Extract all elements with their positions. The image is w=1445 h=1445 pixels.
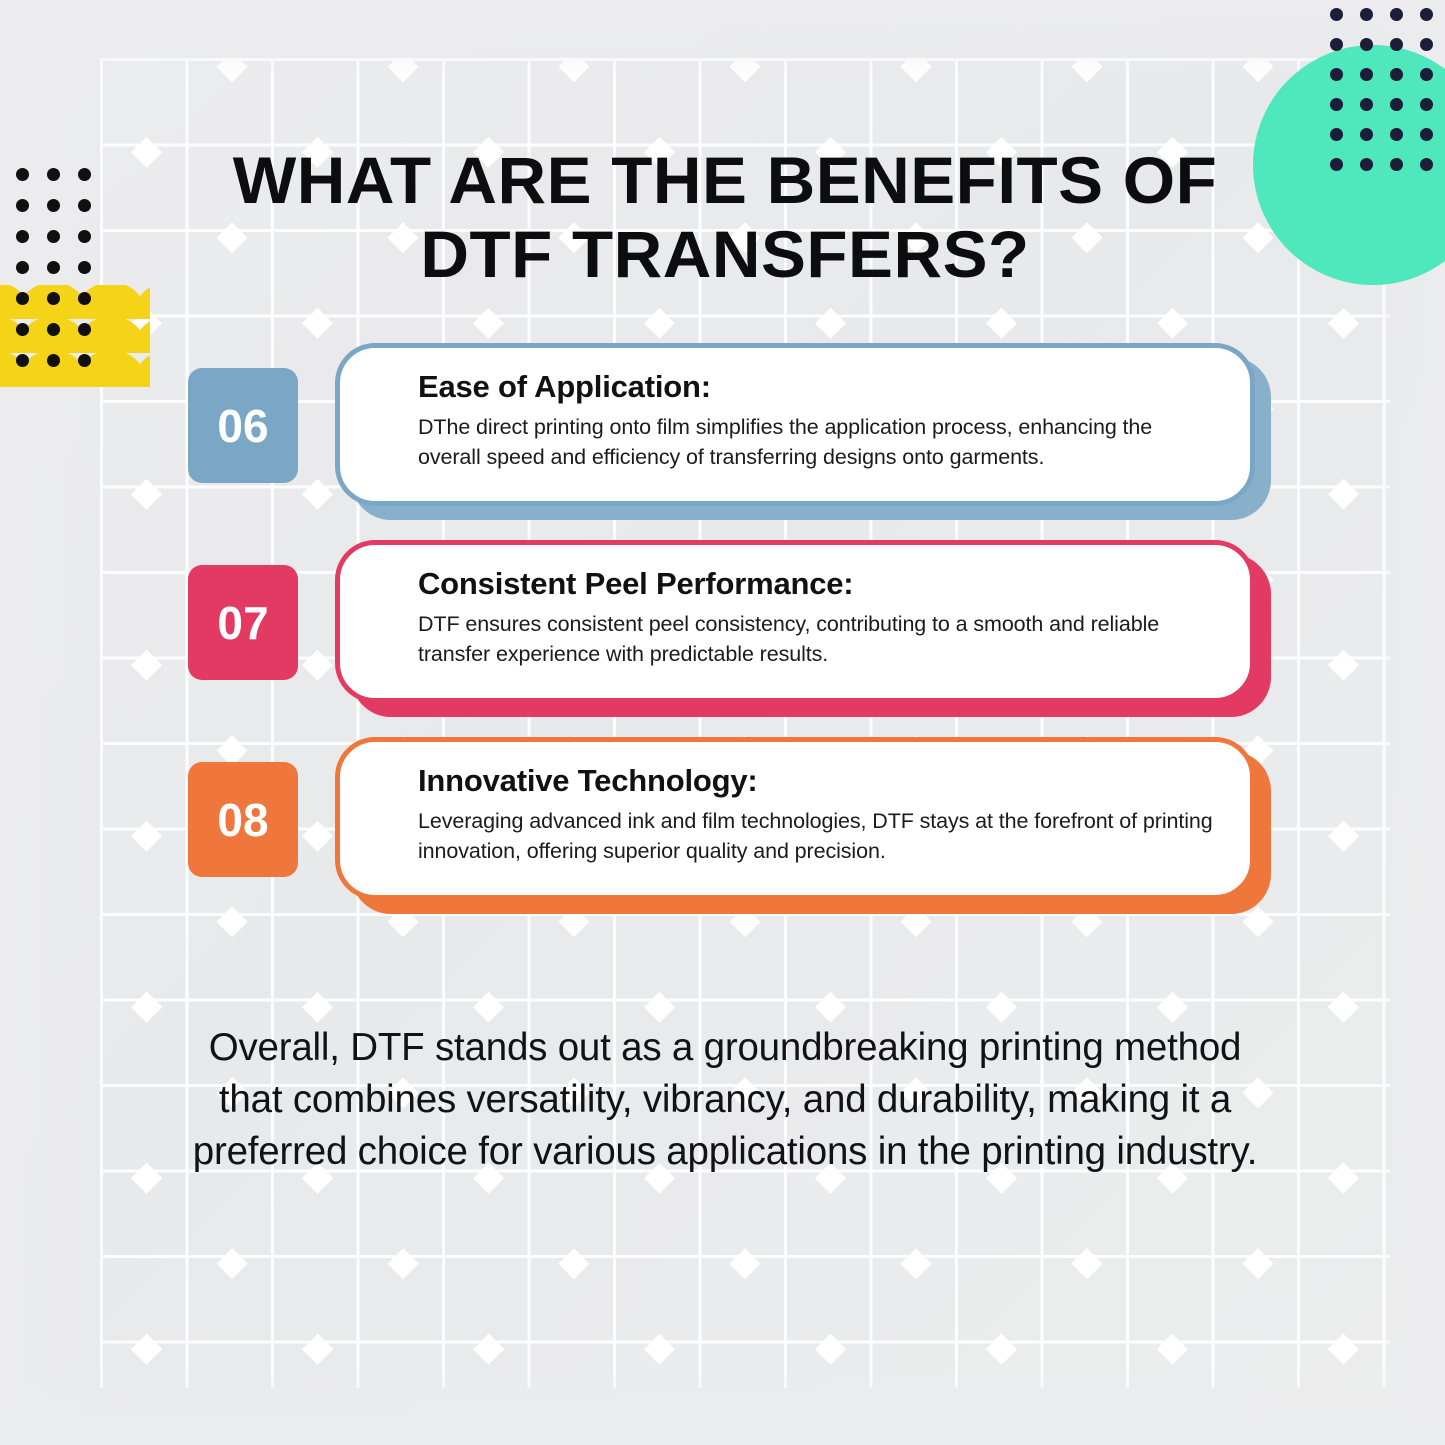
decorative-dot [78, 168, 91, 181]
infographic-poster: WHAT ARE THE BENEFITS OF DTF TRANSFERS? … [0, 0, 1445, 1445]
decorative-dot [1330, 8, 1343, 21]
decorative-dot [47, 168, 60, 181]
benefit-card-06[interactable]: Ease of Application: DThe direct printin… [335, 343, 1255, 506]
benefit-card-07[interactable]: Consistent Peel Performance: DTF ensures… [335, 540, 1255, 703]
summary-paragraph: Overall, DTF stands out as a groundbreak… [185, 1022, 1265, 1178]
benefit-card-shell-07: Consistent Peel Performance: DTF ensures… [335, 540, 1263, 703]
decorative-dot [1420, 8, 1433, 21]
decorative-dot [47, 261, 60, 274]
benefit-row-07: 07 Consistent Peel Performance: DTF ensu… [188, 540, 1263, 715]
decorative-dot [16, 261, 29, 274]
benefit-number-badge-08: 08 [188, 762, 298, 877]
benefit-number-06: 06 [217, 399, 268, 453]
benefit-card-shell-06: Ease of Application: DThe direct printin… [335, 343, 1263, 506]
semicircle-row [0, 353, 150, 387]
decorative-dot [78, 261, 91, 274]
decorative-dot [78, 230, 91, 243]
benefit-number-08: 08 [217, 793, 268, 847]
semicircle-row [0, 285, 150, 319]
decorative-dot [1360, 8, 1373, 21]
benefit-row-06: 06 Ease of Application: DThe direct prin… [188, 343, 1263, 518]
benefit-heading-07: Consistent Peel Performance: [418, 565, 1214, 603]
yellow-semicircle-pattern [0, 285, 150, 387]
benefit-row-08: 08 Innovative Technology: Leveraging adv… [188, 737, 1263, 912]
decorative-dot [1420, 38, 1433, 51]
decorative-dot [78, 199, 91, 212]
decorative-dot [47, 199, 60, 212]
decorative-dot [16, 168, 29, 181]
page-title: WHAT ARE THE BENEFITS OF DTF TRANSFERS? [169, 143, 1281, 291]
benefit-body-07: DTF ensures consistent peel consistency,… [418, 609, 1214, 669]
benefit-number-badge-06: 06 [188, 368, 298, 483]
benefit-heading-08: Innovative Technology: [418, 762, 1214, 800]
benefit-number-badge-07: 07 [188, 565, 298, 680]
decorative-dot [16, 230, 29, 243]
benefit-heading-06: Ease of Application: [418, 368, 1214, 406]
benefit-body-06: DThe direct printing onto film simplifie… [418, 412, 1214, 472]
decorative-dot [16, 199, 29, 212]
semicircle-row [0, 319, 150, 353]
decorative-dot [1390, 8, 1403, 21]
benefit-number-07: 07 [217, 596, 268, 650]
benefit-card-08[interactable]: Innovative Technology: Leveraging advanc… [335, 737, 1255, 900]
decorative-dot [47, 230, 60, 243]
benefit-card-shell-08: Innovative Technology: Leveraging advanc… [335, 737, 1263, 900]
teal-circle-decoration [1253, 45, 1445, 285]
benefit-body-08: Leveraging advanced ink and film technol… [418, 806, 1214, 866]
